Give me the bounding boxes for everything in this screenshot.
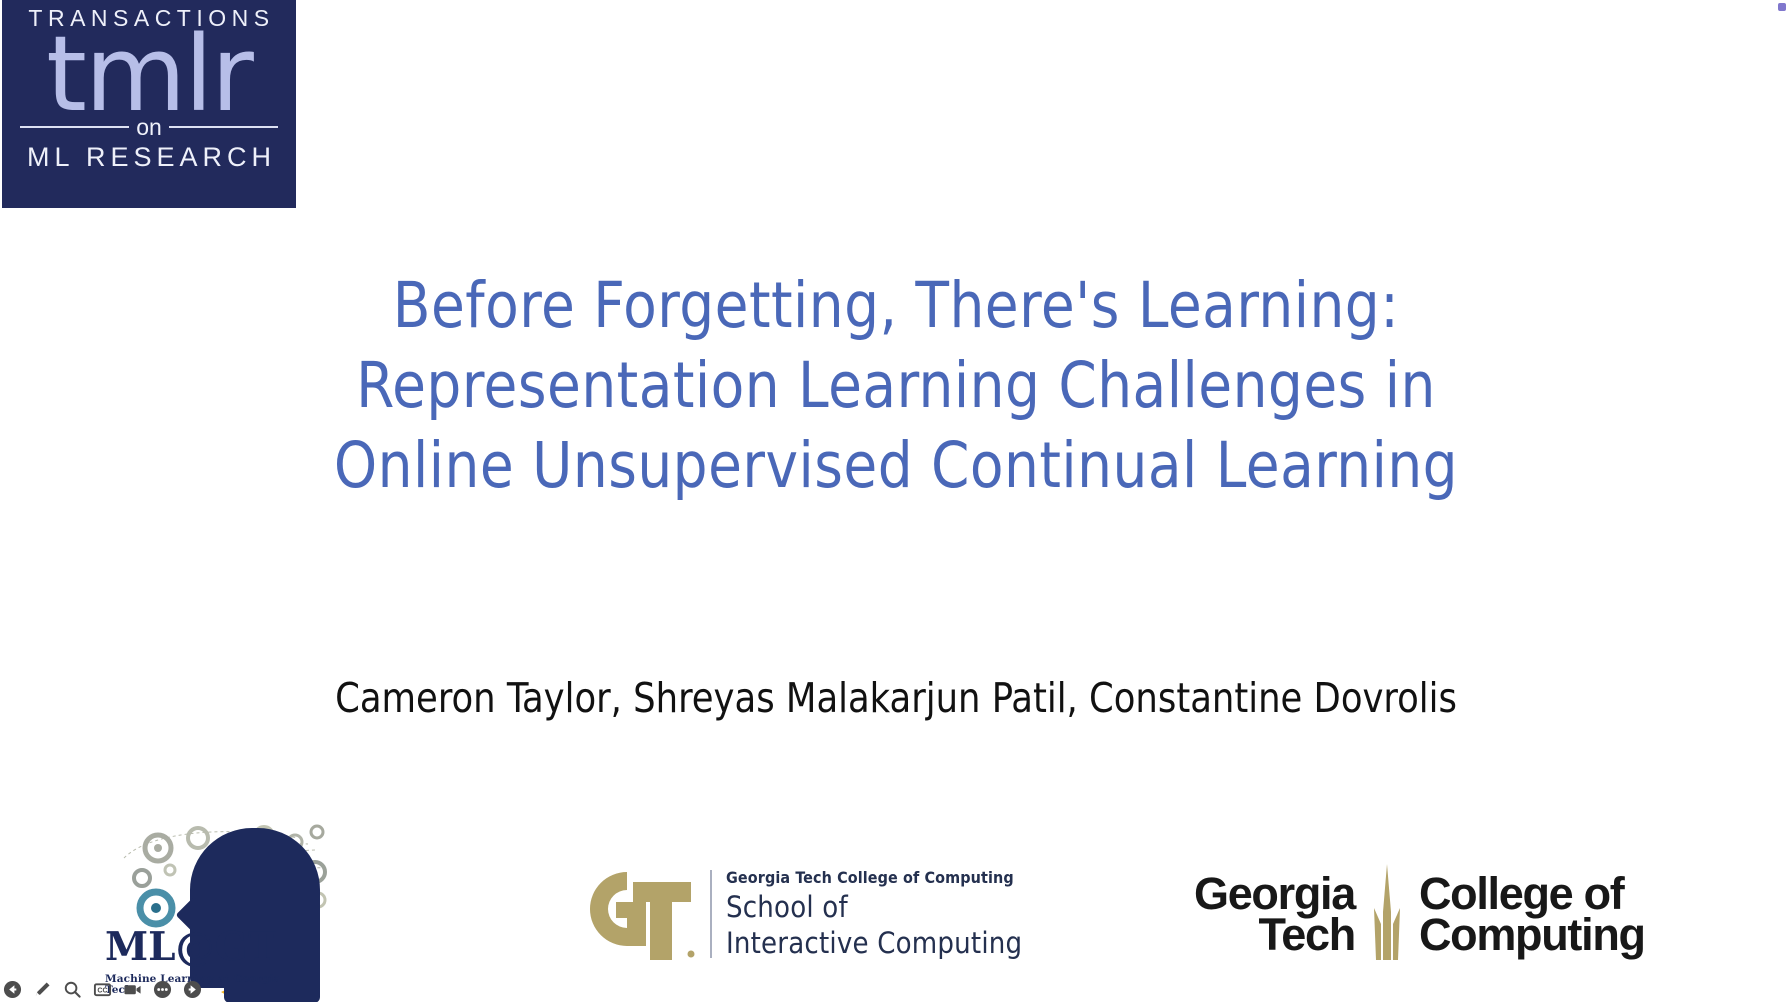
gt-sic-eyebrow: Georgia Tech College of Computing <box>726 870 1022 886</box>
georgia-tech-college-of-computing-logo: Georgia Tech College of Computing <box>1194 866 1645 962</box>
title-line-3: Online Unsupervised Continual Learning <box>27 426 1765 506</box>
corner-artifact-dot <box>1778 3 1786 11</box>
svg-text:CC: CC <box>97 986 107 994</box>
forward-arrow-icon[interactable] <box>183 980 202 999</box>
gtcoc-tech-text: Tech <box>1258 914 1355 955</box>
slide-title: Before Forgetting, There's Learning: Rep… <box>0 266 1792 506</box>
gt-school-interactive-computing-logo: Georgia Tech College of Computing School… <box>578 866 1022 962</box>
search-icon[interactable] <box>63 980 82 999</box>
title-line-1: Before Forgetting, There's Learning: <box>27 266 1765 346</box>
tmlr-rule-right <box>169 126 278 128</box>
title-line-2: Representation Learning Challenges in <box>27 346 1765 426</box>
presentation-slide: TRANSACTIONS tmlr on ML RESEARCH Before … <box>0 0 1792 1002</box>
gt-sic-line-1: School of <box>726 893 1022 922</box>
tmlr-wordmark: tmlr <box>46 24 252 126</box>
gtcoc-georgia-text: Georgia <box>1194 873 1355 914</box>
tmlr-on-text: on <box>136 116 162 139</box>
tmlr-rule-left <box>20 126 129 128</box>
video-player-controls[interactable]: CC <box>3 978 202 1000</box>
gtcoc-left-column: Georgia Tech <box>1194 873 1355 956</box>
tmlr-logo: TRANSACTIONS tmlr on ML RESEARCH <box>2 0 296 208</box>
mlgt-wordmark: ML@GT <box>105 928 285 967</box>
gt-interlocking-mark-icon <box>578 868 696 960</box>
gt-sic-text-block: Georgia Tech College of Computing School… <box>726 870 1022 958</box>
back-arrow-icon[interactable] <box>3 980 22 999</box>
gt-sic-line-2: Interactive Computing <box>726 929 1022 958</box>
gt-tower-icon <box>1365 864 1409 964</box>
author-list: Cameron Taylor, Shreyas Malakarjun Patil… <box>36 673 1756 723</box>
video-camera-icon[interactable] <box>123 980 142 999</box>
tmlr-ml-research-text: ML RESEARCH <box>22 144 276 171</box>
mlgt-logo: ML@GT Machine Learning at Georgia Tech <box>112 824 332 999</box>
tmlr-on-row: on <box>20 116 278 139</box>
chat-dots-icon[interactable] <box>153 980 172 999</box>
logo-divider <box>710 870 712 958</box>
gtcoc-right-column: College of Computing <box>1419 873 1645 956</box>
pencil-icon[interactable] <box>33 980 52 999</box>
gtcoc-college-of-text: College of <box>1419 873 1624 914</box>
closed-captions-icon[interactable]: CC <box>93 980 112 999</box>
gtcoc-computing-text: Computing <box>1419 914 1645 955</box>
